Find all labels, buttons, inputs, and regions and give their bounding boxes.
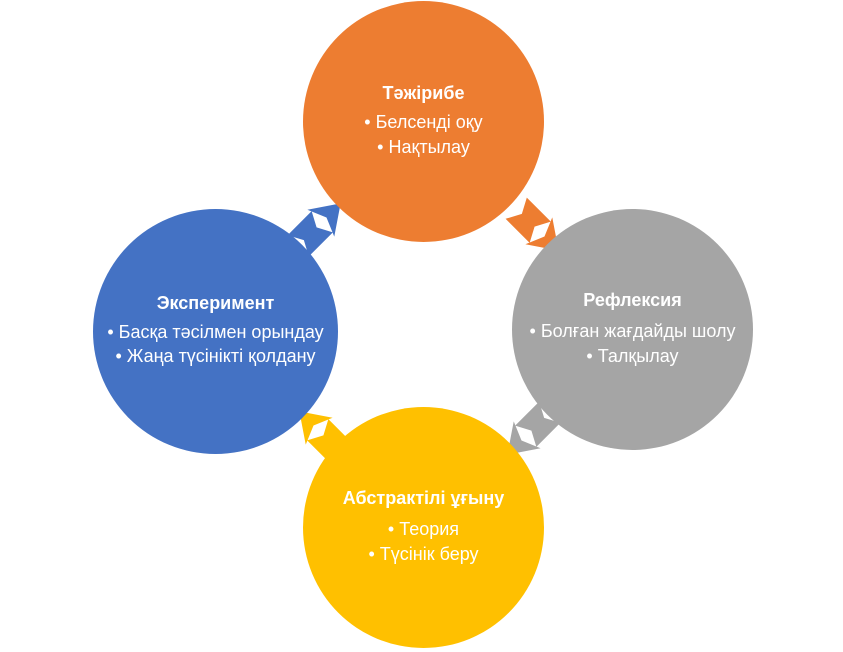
node-item-list-experiment: •Басқа тәсілмен орындау •Жаңа түсінікті … — [93, 321, 338, 370]
list-item: •Басқа тәсілмен орындау — [93, 321, 338, 343]
list-item-label: Басқа тәсілмен орындау — [119, 322, 324, 342]
node-title-reflection: Рефлексия — [512, 290, 753, 312]
list-item-label: Теория — [399, 519, 459, 539]
node-item-list-abstraction: •Теория •Түсінік беру — [303, 518, 544, 567]
bullet-icon: • — [368, 545, 374, 563]
bullet-icon: • — [586, 347, 592, 365]
node-item-list-reflection: •Болған жағдайды шолу •Талқылау — [512, 320, 753, 369]
cycle-node-reflection[interactable]: Рефлексия •Болған жағдайды шолу •Талқыла… — [512, 209, 753, 450]
cycle-node-experience[interactable]: Тәжірибе •Белсенді оқу •Нақтылау — [303, 1, 544, 242]
bullet-icon: • — [530, 322, 536, 340]
bullet-icon: • — [115, 347, 121, 365]
node-title-experiment: Эксперимент — [93, 293, 338, 315]
list-item: •Белсенді оқу — [303, 111, 544, 133]
list-item-label: Нақтылау — [388, 137, 469, 157]
list-item-label: Жаңа түсінікті қолдану — [127, 346, 316, 366]
node-item-list-experience: •Белсенді оқу •Нақтылау — [303, 111, 544, 160]
list-item-label: Болған жағдайды шолу — [541, 321, 736, 341]
bullet-icon: • — [388, 520, 394, 538]
list-item: •Нақтылау — [303, 136, 544, 158]
list-item: •Теория — [303, 518, 544, 540]
list-item-label: Белсенді оқу — [376, 112, 483, 132]
bullet-icon: • — [377, 138, 383, 156]
node-title-experience: Тәжірибе — [303, 83, 544, 105]
cycle-diagram: Тәжірибе •Белсенді оқу •Нақтылау Рефлекс… — [0, 0, 843, 652]
cycle-node-abstraction[interactable]: Абстрактілі ұғыну •Теория •Түсінік беру — [303, 407, 544, 648]
list-item-label: Түсінік беру — [380, 544, 479, 564]
cycle-node-experiment[interactable]: Эксперимент •Басқа тәсілмен орындау •Жаң… — [93, 209, 338, 454]
list-item: •Талқылау — [512, 345, 753, 367]
bullet-icon: • — [107, 323, 113, 341]
node-title-abstraction: Абстрактілі ұғыну — [303, 488, 544, 510]
bullet-icon: • — [364, 113, 370, 131]
list-item: •Болған жағдайды шолу — [512, 320, 753, 342]
list-item-label: Талқылау — [598, 346, 679, 366]
list-item: •Түсінік беру — [303, 543, 544, 565]
list-item: •Жаңа түсінікті қолдану — [93, 345, 338, 367]
